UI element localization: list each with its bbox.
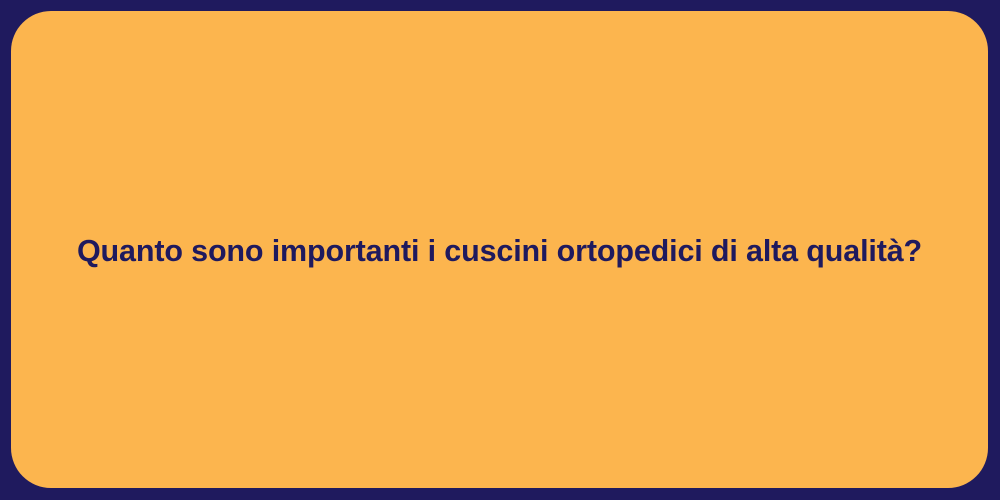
page-background: Quanto sono importanti i cuscini ortoped… xyxy=(0,0,1000,500)
page-title: Quanto sono importanti i cuscini ortoped… xyxy=(77,229,922,273)
content-card: Quanto sono importanti i cuscini ortoped… xyxy=(11,11,988,488)
headline-container: Quanto sono importanti i cuscini ortoped… xyxy=(11,229,988,273)
